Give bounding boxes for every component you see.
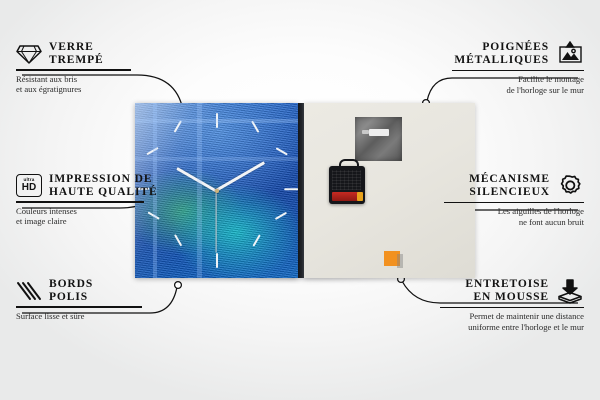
foam-spacer [384, 251, 400, 266]
minute-hand [215, 161, 265, 192]
hanger-slot [369, 129, 389, 136]
foam-spacer-shadow [397, 254, 403, 268]
feature-mecanisme-silencieux: MÉCANISME SILENCIEUX Les aiguilles de l'… [444, 173, 584, 228]
hour-tick [251, 120, 260, 132]
hour-tick [146, 147, 158, 156]
hour-tick [276, 147, 288, 156]
feature-title-line1: VERRE [49, 41, 104, 54]
feature-subtitle-line2: ne font aucun bruit [444, 217, 584, 228]
mechanism-hanging-loop [339, 159, 359, 170]
infographic-canvas: VERRE TREMPÉ Résistant aux bris et aux é… [0, 0, 600, 400]
feature-title-line2: POLIS [49, 291, 93, 304]
feature-title-line1: ENTRETOISE [465, 278, 549, 291]
battery-positive-terminal [357, 192, 363, 201]
hour-tick [252, 234, 261, 246]
feature-subtitle-line1: Permet de maintenir une distance [440, 311, 584, 322]
hour-tick [216, 253, 218, 268]
hour-tick [174, 234, 183, 246]
feature-subtitle-line1: Facilite le montage [452, 74, 584, 85]
product-image [135, 103, 475, 278]
battery [332, 192, 361, 201]
picture-frame-hanger-icon [556, 41, 584, 67]
ultra-hd-icon: ultra HD [16, 174, 42, 197]
feature-title-line1: BORDS [49, 278, 93, 291]
metal-hanger-plate [355, 117, 402, 161]
feature-title-line1: POIGNÉES [454, 41, 549, 54]
feature-subtitle-line1: Surface lisse et sûre [16, 311, 156, 322]
feature-divider [444, 202, 584, 203]
feature-divider [452, 70, 584, 71]
hanger-slot-secondary [362, 130, 369, 134]
feature-subtitle-line2: uniforme entre l'horloge et le mur [440, 322, 584, 333]
mechanism-texture [332, 170, 361, 190]
feature-divider [16, 201, 144, 202]
feature-subtitle-line1: Couleurs intenses [16, 206, 164, 217]
feature-divider [16, 69, 131, 70]
diamond-icon [16, 43, 42, 65]
feature-title-line2: TREMPÉ [49, 54, 104, 67]
feature-divider [440, 307, 584, 308]
feature-bords-polis: BORDS POLIS Surface lisse et sûre [16, 278, 156, 321]
feature-title-line2: MÉTALLIQUES [454, 54, 549, 67]
hour-tick [174, 120, 183, 132]
feature-subtitle-line2: de l'horloge sur le mur [452, 85, 584, 96]
feature-subtitle-line1: Les aiguilles de l'horloge [444, 206, 584, 217]
feature-subtitle-line2: et aux égratignures [16, 84, 148, 95]
feature-entretoise-en-mousse: ENTRETOISE EN MOUSSE Permet de maintenir… [440, 278, 584, 333]
foam-spacer-arrow-icon [556, 278, 584, 304]
polished-edges-icon [16, 280, 42, 302]
feature-subtitle-line1: Résistant aux bris [16, 74, 148, 85]
feature-subtitle-line2: et image claire [16, 216, 164, 227]
feature-title-line1: MÉCANISME [469, 173, 550, 186]
feature-impression-haute-qualite: ultra HD IMPRESSION DE HAUTE QUALITÉ Cou… [16, 173, 164, 227]
hour-tick [284, 188, 298, 190]
gear-icon [557, 173, 584, 199]
feature-verre-trempe: VERRE TREMPÉ Résistant aux bris et aux é… [16, 41, 148, 95]
feature-title-line1: IMPRESSION DE [49, 173, 158, 186]
feature-poignees-metalliques: POIGNÉES MÉTALLIQUES Facilite le montage… [452, 41, 584, 96]
clock-center-hub [215, 189, 219, 193]
ultra-hd-large-label: HD [22, 183, 36, 193]
hour-tick [216, 113, 218, 128]
feature-title-line2: EN MOUSSE [465, 291, 549, 304]
hour-hand [176, 167, 217, 192]
feature-divider [16, 306, 142, 307]
feature-title-line2: SILENCIEUX [469, 186, 550, 199]
hour-tick [275, 211, 287, 220]
feature-title-line2: HAUTE QUALITÉ [49, 186, 158, 199]
clock-mechanism [329, 166, 365, 204]
second-hand [215, 191, 216, 253]
